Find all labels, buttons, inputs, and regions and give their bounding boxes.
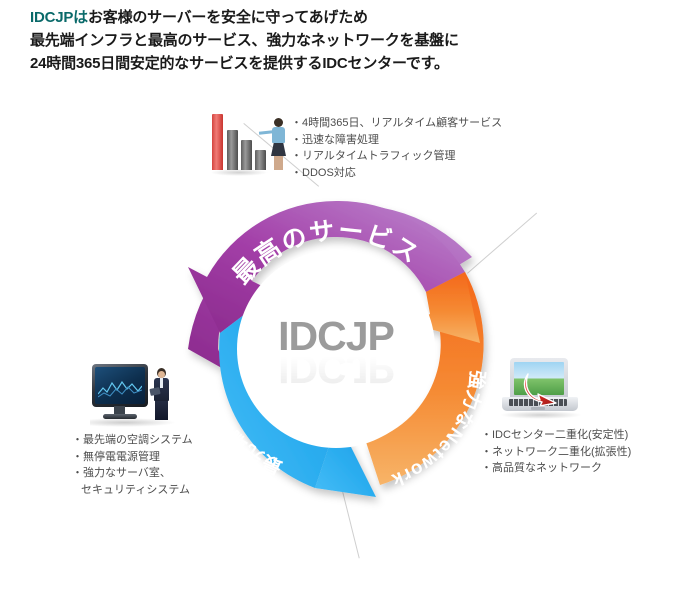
bar-3 (241, 140, 252, 170)
presenter-legs (274, 156, 283, 170)
callout-network-item-1: ・ネットワーク二重化(拡張性) (481, 444, 631, 461)
presenter-arm (259, 130, 273, 134)
presenter-head (274, 118, 283, 127)
callout-infra-item-3: セキュリティシステム (72, 482, 193, 499)
ring-graphic: 最高のサービス 強力なNetwork 最先端INFRA (180, 193, 492, 505)
monitor-stand-base (103, 414, 137, 419)
monitor-businessman-icon (88, 360, 180, 432)
red-curved-arrow-icon (522, 372, 568, 406)
presenter-skirt (271, 143, 286, 156)
bar-4 (255, 150, 266, 170)
callout-service: ・4時間365日、リアルタイム顧客サービス ・迅速な障害処理 ・リアルタイムトラ… (291, 115, 502, 181)
monitor-screen (95, 367, 145, 404)
cycle-diagram: 最高のサービス 強力なNetwork 最先端INFRA IDCJP IDCJP (0, 88, 680, 600)
header-line-2: 最先端インフラと最高のサービス、強力なネットワークを基盤に (30, 29, 670, 52)
callout-service-item-2: ・リアルタイムトラフィック管理 (291, 148, 502, 165)
callout-service-item-0: ・4時間365日、リアルタイム顧客サービス (291, 115, 502, 132)
laptop-shadow (500, 411, 582, 419)
header-line-3: 24時間365日間安定的なサービスを提供するIDCセンターです。 (30, 52, 670, 75)
callout-network: ・IDCセンター二重化(安定性) ・ネットワーク二重化(拡張性) ・高品質なネッ… (481, 427, 631, 477)
callout-network-item-2: ・高品質なネットワーク (481, 460, 631, 477)
bar-chart-shadow (210, 169, 268, 176)
callout-infra: ・最先端の空調システム ・無停電電源管理 ・強力なサーバ室、 セキュリティシステ… (72, 432, 193, 498)
presenter-figure (268, 118, 290, 170)
callout-service-item-3: ・DDOS対応 (291, 165, 502, 182)
presenter-torso (272, 127, 285, 143)
laptop-arrow-icon (500, 356, 584, 424)
bar-1 (212, 114, 223, 170)
header-line-1-text: お客様のサーバーを安全に守ってあげため (88, 9, 368, 26)
businessman-legs (155, 401, 168, 420)
callout-service-item-1: ・迅速な障害処理 (291, 132, 502, 149)
bar-2 (227, 130, 238, 170)
businessman-shirt (160, 378, 163, 388)
laptop-trackpad (531, 407, 545, 410)
businessman-face (158, 371, 165, 378)
header-line-1: IDCJPはお客様のサーバーを安全に守ってあげため (30, 6, 670, 29)
brand-name: IDCJPは (30, 9, 88, 26)
callout-infra-item-2: ・強力なサーバ室、 (72, 465, 193, 482)
callout-infra-item-1: ・無停電電源管理 (72, 449, 193, 466)
page-title: IDCJPはお客様のサーバーを安全に守ってあげため 最先端インフラと最高のサービ… (30, 6, 670, 75)
bar-chart-presenter-icon (210, 108, 290, 178)
callout-infra-item-0: ・最先端の空調システム (72, 432, 193, 449)
callout-network-item-0: ・IDCセンター二重化(安定性) (481, 427, 631, 444)
monitor-chart-line (98, 378, 142, 398)
businessman-figure (150, 368, 174, 422)
ring-inner-disc (237, 250, 435, 448)
monitor-frame (92, 364, 148, 407)
